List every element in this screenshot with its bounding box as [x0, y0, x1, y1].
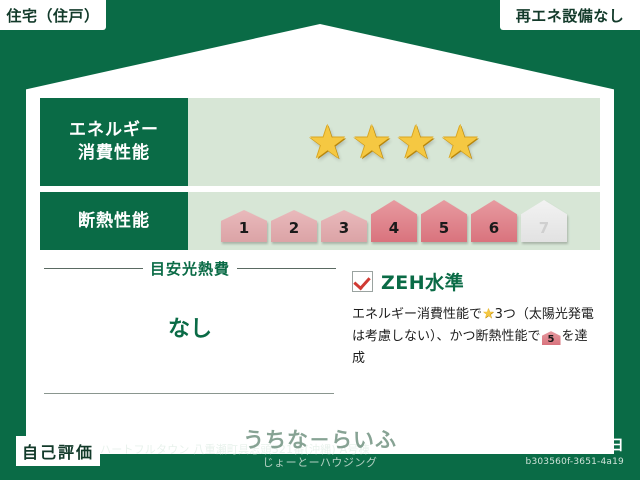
label-main-card: エネルギー 消費性能 ★★★★ 断熱性能 1234567 目安光熱費 なし [30, 90, 610, 428]
label-lower-section: 目安光熱費 なし ZEH水準 エネルギー消費性能で★3つ（太陽光発電は考慮しない… [40, 256, 600, 432]
badge-building-type: 住宅（住戸） [0, 0, 106, 30]
house-level-number: 4 [389, 219, 399, 242]
insulation-performance-label: 断熱性能 [40, 192, 188, 250]
inline-house-number: 5 [548, 334, 555, 345]
energy-performance-value: ★★★★ [188, 98, 600, 186]
house-icon-1: 1 [221, 210, 267, 242]
star-icon: ★ [351, 119, 392, 165]
house-icon-7: 7 [521, 200, 567, 242]
utility-cost-heading-wrap: 目安光熱費 [40, 258, 340, 279]
label-footer: 自己評価 ハートフルタウン 八重瀬町具志頭321番(沖縄) A号棟 評価日 20… [0, 428, 640, 480]
utility-cost-value: なし [40, 311, 340, 343]
energy-performance-label: エネルギー 消費性能 [40, 98, 188, 186]
heading-rule-left [44, 268, 143, 269]
house-level-number: 5 [439, 219, 449, 242]
star-icon: ★ [440, 119, 481, 165]
inline-house-icon: 5 [542, 331, 561, 345]
house-level-number: 3 [339, 219, 349, 242]
energy-performance-label: 住宅（住戸） 再エネ設備なし 建築物省エネ法に基づく 省エネ性能ラベル エネルギ… [0, 0, 640, 480]
badge-renewable-equipment: 再エネ設備なし [500, 0, 640, 30]
zeh-desc-part3: は考慮しない）、かつ断熱性能で [352, 329, 541, 344]
zeh-checkbox-icon [352, 271, 373, 292]
property-name: ハートフルタウン 八重瀬町具志頭321番(沖縄) A号棟 [100, 441, 370, 457]
utility-cost-bottom-rule [44, 393, 334, 394]
evaluation-date-block: 評価日 2025年7月1日 b303560f-3651-4a19 [473, 435, 624, 467]
label-id: b303560f-3651-4a19 [473, 457, 624, 467]
zeh-title: ZEH水準 [381, 268, 464, 295]
house-icon-4: 4 [371, 200, 417, 242]
star-icon: ★ [396, 119, 437, 165]
house-level-number: 1 [239, 219, 249, 242]
house-icon-3: 3 [321, 210, 367, 242]
star-icon: ★ [307, 119, 348, 165]
zeh-desc-part2: 3つ（太陽光発電 [495, 307, 594, 322]
house-level-number: 2 [289, 219, 299, 242]
house-rating-scale: 1234567 [221, 200, 567, 242]
zeh-desc-part1: エネルギー消費性能で [352, 307, 482, 322]
self-evaluation-badge: 自己評価 [16, 436, 100, 466]
evaluation-date: 評価日 2025年7月1日 [473, 435, 624, 455]
insulation-performance-value: 1234567 [188, 192, 600, 250]
zeh-heading: ZEH水準 [352, 268, 596, 295]
house-icon-5: 5 [421, 200, 467, 242]
house-level-number: 7 [539, 219, 549, 242]
star-rating: ★★★★ [307, 119, 481, 165]
house-icon-6: 6 [471, 200, 517, 242]
energy-performance-row: エネルギー 消費性能 ★★★★ [40, 98, 600, 186]
utility-cost-column: 目安光熱費 なし [40, 256, 340, 432]
inline-star-icon: ★ [482, 306, 495, 322]
house-level-number: 6 [489, 219, 499, 242]
energy-performance-label-line2: 消費性能 [78, 142, 150, 165]
house-icon-2: 2 [271, 210, 317, 242]
energy-performance-label-line1: エネルギー [69, 119, 159, 142]
zeh-description: エネルギー消費性能で★3つ（太陽光発電は考慮しない）、かつ断熱性能で5を達成 [352, 303, 596, 369]
utility-cost-heading: 目安光熱費 [150, 258, 230, 279]
heading-rule-right [237, 268, 336, 269]
zeh-column: ZEH水準 エネルギー消費性能で★3つ（太陽光発電は考慮しない）、かつ断熱性能で… [340, 256, 600, 432]
insulation-performance-row: 断熱性能 1234567 [40, 192, 600, 250]
